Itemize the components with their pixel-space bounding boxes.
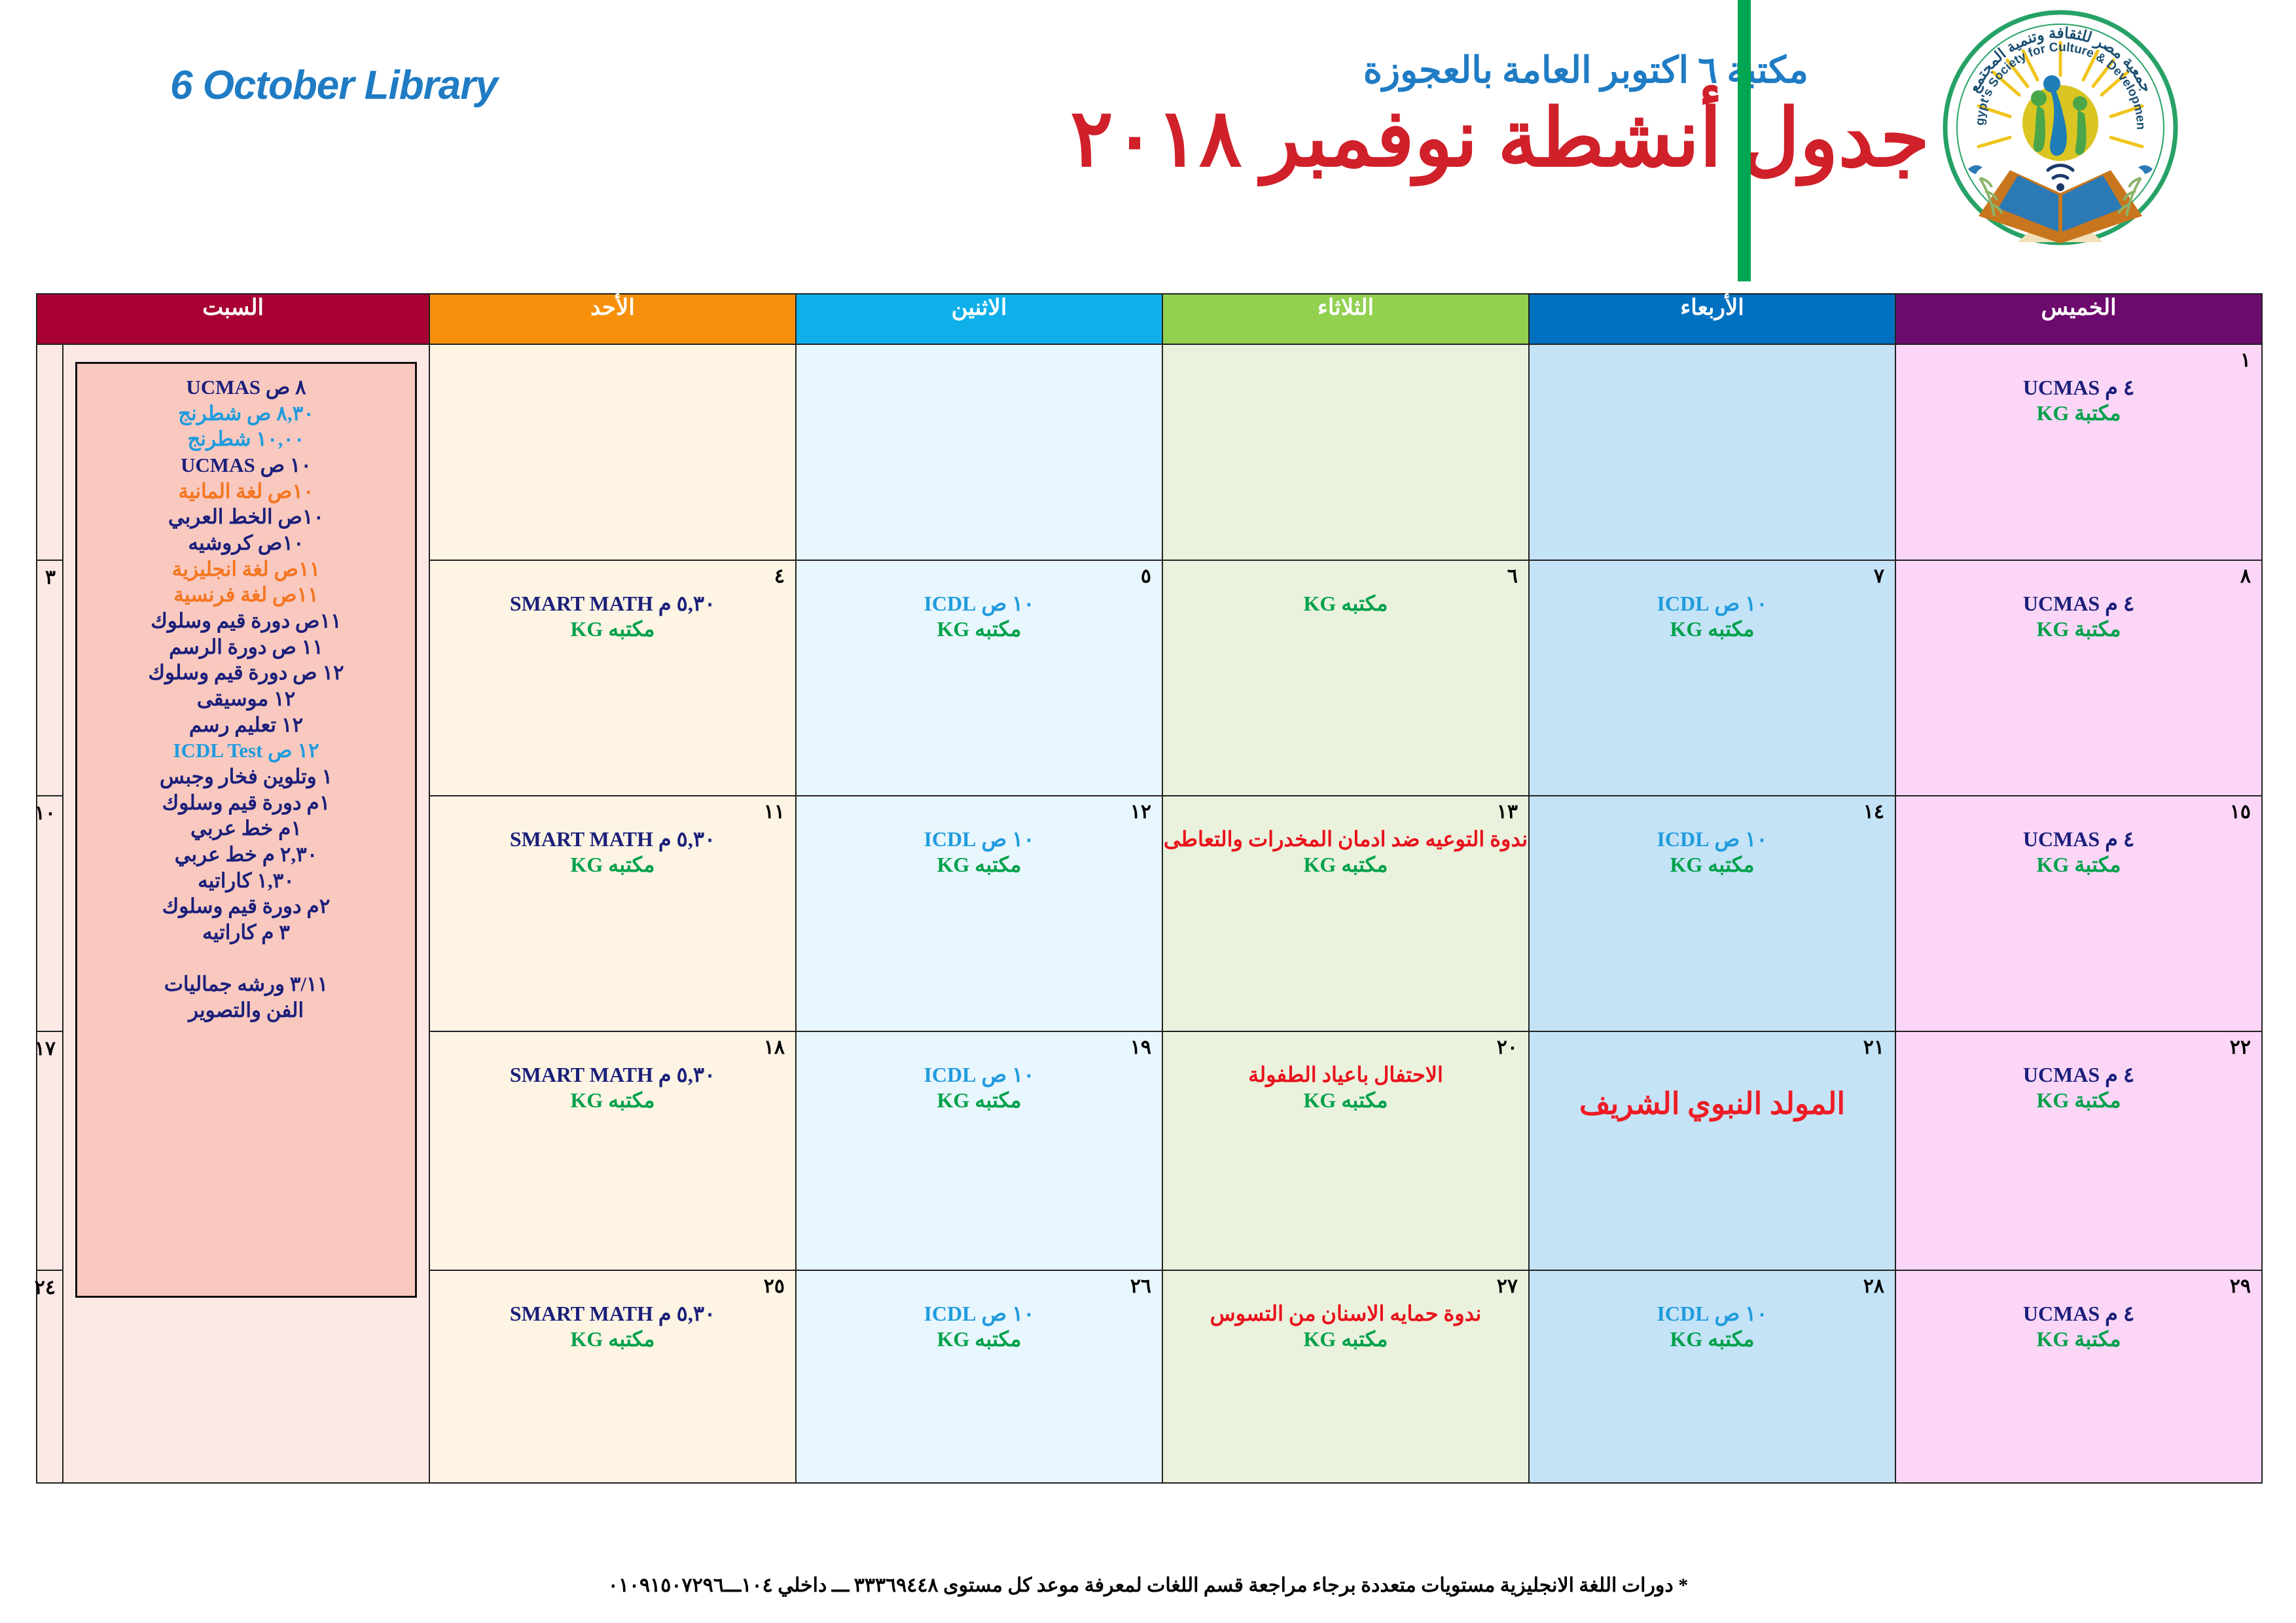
activity-line: ٥,٣٠ م SMART MATH	[430, 827, 795, 852]
page-title: جدول أنشطة نوفمبر ٢٠١٨	[1070, 92, 1929, 185]
activity-line: الاحتفال باعياد الطفولة	[1163, 1062, 1528, 1088]
activity-line: ٥,٣٠ م SMART MATH	[430, 591, 795, 616]
saturday-date-cell[interactable]: ١٧	[37, 1031, 63, 1270]
day-cell-wednesday[interactable]: ٧١٠ ص ICDLمكتبه KG	[1529, 560, 1895, 796]
activity-line: مكتبه KG	[430, 616, 795, 642]
activity-line: ٤ م UCMAS	[1896, 375, 2261, 401]
activity-list: ٥,٣٠ م SMART MATHمكتبه KG	[430, 591, 795, 642]
saturday-activity-list: ٨ ص UCMAS٨,٣٠ ص شطرنج١٠,٠٠ شطرنج١٠ ص UCM…	[75, 362, 417, 1298]
activity-line: ٣/١١ ورشه جماليات	[89, 971, 403, 997]
activity-line: ٨ ص UCMAS	[89, 374, 403, 401]
activity-line: ١م دورة قيم وسلوك	[89, 790, 403, 816]
activity-list: ١٠ ص ICDLمكتبه KG	[1530, 591, 1895, 642]
day-number: ١٠	[35, 802, 56, 825]
activity-line: مكتبه KG	[1530, 852, 1895, 878]
day-number: ٦	[1507, 565, 1518, 588]
day-number: ٧	[1874, 565, 1884, 588]
activity-line: ١,٣٠ كاراتيه	[89, 868, 403, 894]
activity-line: مكتبة KG	[1896, 1327, 2261, 1352]
day-cell-tuesday[interactable]: ٢٠الاحتفال باعياد الطفولةمكتبه KG	[1162, 1031, 1529, 1270]
day-number: ٢٥	[764, 1275, 785, 1298]
activity-line: مكتبه KG	[430, 1088, 795, 1113]
activity-line: ١٠ص كروشيه	[89, 530, 403, 556]
day-cell-thursday[interactable]: ١٤ م UCMASمكتبة KG	[1895, 344, 2262, 560]
activity-list: ندوة التوعيه ضد ادمان المخدرات والتعاطىم…	[1163, 827, 1528, 878]
day-cell-sunday[interactable]	[429, 344, 796, 560]
day-cell-wednesday[interactable]: ٢٨١٠ ص ICDLمكتبه KG	[1529, 1270, 1895, 1483]
calendar-header-row: الخميس الأربعاء الثلاثاء الاثنين الأحد ا…	[37, 294, 2262, 344]
day-header-tuesday: الثلاثاء	[1162, 294, 1529, 344]
activity-line: مكتبة KG	[1896, 616, 2261, 642]
day-cell-monday[interactable]: ٥١٠ ص ICDLمكتبه KG	[796, 560, 1162, 796]
day-number: ١٩	[1130, 1036, 1151, 1059]
day-cell-sunday[interactable]: ١٨٥,٣٠ م SMART MATHمكتبه KG	[429, 1031, 796, 1270]
activity-list: مكتبه KG	[1163, 591, 1528, 616]
activity-line: ندوة حمايه الاسنان من التسوس	[1163, 1301, 1528, 1327]
day-cell-monday[interactable]: ١٢١٠ ص ICDLمكتبه KG	[796, 796, 1162, 1031]
activity-line: ٢م دورة قيم وسلوك	[89, 893, 403, 919]
activity-line: ١٢ ص ICDL Test	[89, 738, 403, 764]
day-number: ٢٠	[1497, 1036, 1518, 1059]
activity-line: مكتبة KG	[1896, 852, 2261, 878]
activity-line: مكتبه KG	[797, 1088, 1162, 1113]
activity-line: ١٠ ص ICDL	[1530, 827, 1895, 852]
activity-list: ٥,٣٠ م SMART MATHمكتبه KG	[430, 1301, 795, 1352]
activity-line: ١٠ ص UCMAS	[89, 452, 403, 478]
day-number: ٨	[2240, 565, 2251, 588]
day-cell-monday[interactable]	[796, 344, 1162, 560]
day-cell-tuesday[interactable]: ١٣ندوة التوعيه ضد ادمان المخدرات والتعاط…	[1162, 796, 1529, 1031]
activity-line: مكتبه KG	[1530, 1327, 1895, 1352]
day-cell-monday[interactable]: ١٩١٠ ص ICDLمكتبه KG	[796, 1031, 1162, 1270]
activity-line: ٥,٣٠ م SMART MATH	[430, 1301, 795, 1327]
activity-line: ٤ م UCMAS	[1896, 591, 2261, 616]
day-number: ٢٨	[1863, 1275, 1884, 1298]
day-number: ٢٦	[1130, 1275, 1151, 1298]
activity-line: ١٠ص الخط العربي	[89, 504, 403, 530]
day-cell-sunday[interactable]: ١١٥,٣٠ م SMART MATHمكتبه KG	[429, 796, 796, 1031]
activity-list: ١٠ ص ICDLمكتبه KG	[797, 1062, 1162, 1113]
activity-line: ١٠ ص ICDL	[797, 1301, 1162, 1327]
activity-list: ٥,٣٠ م SMART MATHمكتبه KG	[430, 827, 795, 878]
day-number: ١	[2240, 349, 2251, 372]
activity-line: مكتبة KG	[1896, 1088, 2261, 1113]
day-header-thursday: الخميس	[1895, 294, 2262, 344]
activity-line	[89, 946, 403, 972]
activity-line: مكتبه KG	[430, 1327, 795, 1352]
saturday-date-cell[interactable]: ٢٤	[37, 1270, 63, 1483]
activity-line: ٤ م UCMAS	[1896, 1062, 2261, 1088]
activity-line: ١٠ ص ICDL	[1530, 591, 1895, 616]
activity-line: مكتبه KG	[1163, 1327, 1528, 1352]
saturday-activities-panel[interactable]: ٨ ص UCMAS٨,٣٠ ص شطرنج١٠,٠٠ شطرنج١٠ ص UCM…	[63, 344, 429, 1483]
activity-line: ٤ م UCMAS	[1896, 1301, 2261, 1327]
day-header-monday: الاثنين	[796, 294, 1162, 344]
activity-line: مكتبه KG	[797, 1327, 1162, 1352]
day-cell-monday[interactable]: ٢٦١٠ ص ICDLمكتبه KG	[796, 1270, 1162, 1483]
page-header: 6 October Library مكتبة ٦ اكتوبر العامة …	[0, 0, 2296, 281]
activity-list: ٤ م UCMASمكتبة KG	[1896, 591, 2261, 642]
day-number: ١٣	[1497, 800, 1518, 823]
day-number: ٢٩	[2230, 1275, 2251, 1298]
saturday-date-cell-empty	[37, 344, 63, 560]
activity-line: ١٠ ص ICDL	[1530, 1301, 1895, 1327]
day-cell-thursday[interactable]: ٨٤ م UCMASمكتبة KG	[1895, 560, 2262, 796]
activity-line: مكتبة KG	[1896, 401, 2261, 426]
activity-list: ٤ م UCMASمكتبة KG	[1896, 1301, 2261, 1352]
activity-list: ٥,٣٠ م SMART MATHمكتبه KG	[430, 1062, 795, 1113]
activity-line: ندوة التوعيه ضد ادمان المخدرات والتعاطى	[1163, 827, 1528, 852]
day-number: ٢٢	[2230, 1036, 2251, 1059]
activity-line: مكتبه KG	[797, 852, 1162, 878]
holiday-label: المولد النبوي الشريف	[1530, 1084, 1895, 1124]
activity-line: ١١ص دورة قيم وسلوك	[89, 608, 403, 634]
day-cell-wednesday[interactable]: ١٤١٠ ص ICDLمكتبه KG	[1529, 796, 1895, 1031]
activity-line: ١٠ ص ICDL	[797, 591, 1162, 616]
activity-line: مكتبه KG	[1530, 616, 1895, 642]
activity-line: مكتبه KG	[1163, 591, 1528, 616]
day-header-wednesday: الأربعاء	[1529, 294, 1895, 344]
day-number: ٤	[774, 565, 785, 588]
green-vertical-bar	[1738, 0, 1751, 281]
activity-line: ٤ م UCMAS	[1896, 827, 2261, 852]
activity-list: ٤ م UCMASمكتبة KG	[1896, 827, 2261, 878]
activity-line: مكتبه KG	[797, 616, 1162, 642]
saturday-date-cell[interactable]: ٣	[37, 560, 63, 796]
activity-line: ١١ص لغة فرنسية	[89, 582, 403, 608]
day-number: ١٥	[2230, 800, 2251, 823]
day-number: ١٨	[764, 1036, 785, 1059]
footer-note: * دورات اللغة الانجليزية مستويات متعددة …	[0, 1574, 2296, 1597]
activity-line: ١ وتلوين فخار وجبس	[89, 764, 403, 790]
activity-list: ١٠ ص ICDLمكتبه KG	[1530, 1301, 1895, 1352]
day-header-saturday: السبت	[37, 294, 429, 344]
day-cell-sunday[interactable]: ٢٥٥,٣٠ م SMART MATHمكتبه KG	[429, 1270, 796, 1483]
day-number: ١٤	[1863, 800, 1884, 823]
activity-line: ٢,٣٠ م خط عربي	[89, 842, 403, 868]
activity-line: ١م خط عربي	[89, 815, 403, 842]
day-cell-tuesday[interactable]	[1162, 344, 1529, 560]
activity-list: ٤ م UCMASمكتبة KG	[1896, 1062, 2261, 1113]
activity-list: ١٠ ص ICDLمكتبه KG	[797, 1301, 1162, 1352]
activity-calendar: الخميس الأربعاء الثلاثاء الاثنين الأحد ا…	[36, 293, 2263, 1484]
activity-line: ١٠,٠٠ شطرنج	[89, 426, 403, 452]
day-number: ٢٧	[1497, 1275, 1518, 1298]
activity-list: الاحتفال باعياد الطفولةمكتبه KG	[1163, 1062, 1528, 1113]
activity-line: ١١ص لغة انجليزية	[89, 556, 403, 582]
activity-line: ١٢ موسيقى	[89, 686, 403, 712]
day-cell-tuesday[interactable]: ٦مكتبه KG	[1162, 560, 1529, 796]
activity-line: ٨,٣٠ ص شطرنج	[89, 401, 403, 427]
activity-line: ١٠ص لغة المانية	[89, 478, 403, 505]
activity-line: ١٠ ص ICDL	[797, 1062, 1162, 1088]
activity-line: ١١ ص دورة الرسم	[89, 634, 403, 660]
activity-line: مكتبه KG	[430, 852, 795, 878]
activity-list: ندوة حمايه الاسنان من التسوسمكتبه KG	[1163, 1301, 1528, 1352]
activity-list: ٤ م UCMASمكتبة KG	[1896, 375, 2261, 426]
day-header-sunday: الأحد	[429, 294, 796, 344]
saturday-date-cell[interactable]: ١٠	[37, 796, 63, 1031]
activity-list: ١٠ ص ICDLمكتبه KG	[1530, 827, 1895, 878]
calendar-week-row: ١٤ م UCMASمكتبة KG٨ ص UCMAS٨,٣٠ ص شطرنج١…	[37, 344, 2262, 560]
activity-line: ٥,٣٠ م SMART MATH	[430, 1062, 795, 1088]
day-cell-sunday[interactable]: ٤٥,٣٠ م SMART MATHمكتبه KG	[429, 560, 796, 796]
activity-line: ١٢ تعليم رسم	[89, 712, 403, 738]
activity-line: ١٠ ص ICDL	[797, 827, 1162, 852]
day-number: ٢١	[1863, 1036, 1884, 1059]
day-number: ٥	[1141, 565, 1151, 588]
activity-line: مكتبه KG	[1163, 852, 1528, 878]
day-number: ١٧	[35, 1037, 56, 1060]
organization-logo: جمعية مصر للثقافة وتنمية المجتمع Egypt's…	[1939, 7, 2181, 249]
day-cell-thursday[interactable]: ٢٩٤ م UCMASمكتبة KG	[1895, 1270, 2262, 1483]
day-number: ٢٤	[35, 1276, 56, 1299]
activity-line: الفن والتصوير	[89, 997, 403, 1024]
day-cell-tuesday[interactable]: ٢٧ندوة حمايه الاسنان من التسوسمكتبه KG	[1162, 1270, 1529, 1483]
activity-list: ١٠ ص ICDLمكتبه KG	[797, 827, 1162, 878]
day-number: ١١	[764, 800, 785, 823]
day-cell-wednesday[interactable]	[1529, 344, 1895, 560]
day-cell-wednesday[interactable]: ٢١المولد النبوي الشريف	[1529, 1031, 1895, 1270]
activity-list: ١٠ ص ICDLمكتبه KG	[797, 591, 1162, 642]
day-cell-thursday[interactable]: ٢٢٤ م UCMASمكتبة KG	[1895, 1031, 2262, 1270]
activity-line: مكتبه KG	[1163, 1088, 1528, 1113]
english-library-title: 6 October Library	[170, 62, 497, 109]
activity-line: ١٢ ص دورة قيم وسلوك	[89, 660, 403, 686]
day-cell-thursday[interactable]: ١٥٤ م UCMASمكتبة KG	[1895, 796, 2262, 1031]
day-number: ١٢	[1130, 800, 1151, 823]
day-number: ٣	[45, 566, 56, 589]
activity-line: ٣ م كاراتيه	[89, 919, 403, 946]
